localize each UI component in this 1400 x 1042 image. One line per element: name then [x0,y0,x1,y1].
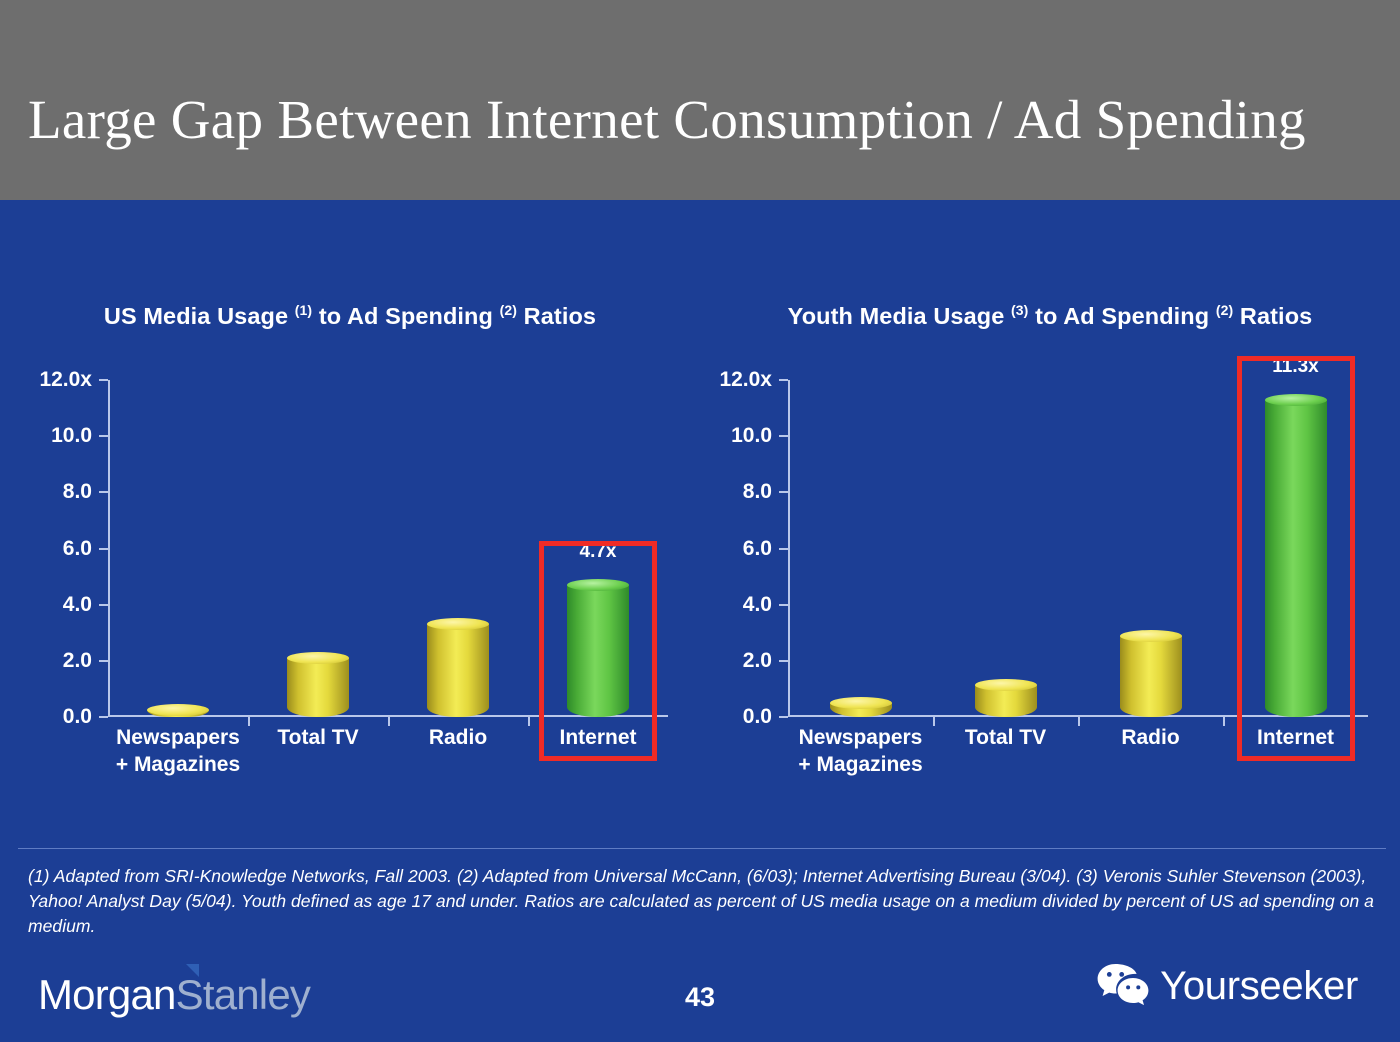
y-axis-label: 6.0 [743,537,772,561]
y-axis-label: 0.0 [743,705,772,729]
x-axis-label-line: Newspapers [798,724,922,751]
slide-body: US Media Usage (1) to Ad Spending (2) Ra… [0,200,1400,1042]
y-axis-tick [779,548,788,550]
bar-cap [287,652,349,664]
chart-title-us-media-usage: US Media Usage (1) to Ad Spending (2) Ra… [0,292,700,334]
bar-radio [1120,636,1182,717]
x-axis-label-line: Newspapers [116,724,240,751]
x-axis-label-line: Internet [1257,724,1334,751]
y-axis-tick [779,604,788,606]
bar-total-tv [287,658,349,717]
chart-youth-media-usage: Youth Media Usage (3) to Ad Spending (2)… [700,200,1400,810]
y-axis-label: 8.0 [743,480,772,504]
x-axis-category-internet: Internet [1257,724,1334,751]
bar-cap [975,679,1037,691]
chart-title-part-1: US Media Usage [104,303,295,329]
footnote-line-1: (1) Adapted from SRI-Knowledge Networks,… [28,866,1218,886]
x-axis-labels-us: Newspapers+ MagazinesTotal TVRadioIntern… [108,724,668,796]
bar-cap [830,697,892,709]
y-axis-label: 10.0 [731,424,772,448]
x-axis-category-internet: Internet [559,724,636,751]
bar-value-label: 11.3x [1272,356,1319,378]
y-axis-label: 10.0 [51,424,92,448]
x-axis-label-line: + Magazines [116,751,240,778]
bar-radio [427,624,489,717]
chart-title-youth-media-usage: Youth Media Usage (3) to Ad Spending (2)… [700,292,1400,334]
chart-title-part-3: Ratios [1233,303,1312,329]
bar-total-tv [975,685,1037,717]
y-axis-tick [99,604,108,606]
x-axis-labels-youth: Newspapers+ MagazinesTotal TVRadioIntern… [788,724,1368,796]
bar-cap [1265,394,1327,406]
y-axis-tick [779,435,788,437]
y-axis-line [108,380,110,717]
bar-internet [1265,400,1327,717]
bar-internet [567,585,629,717]
x-axis-category-newspapers-magazines: Newspapers+ Magazines [798,724,922,778]
y-axis-label: 2.0 [63,649,92,673]
slide-footer: MorganStanley 43 Yourseeker [0,952,1400,1042]
bar-cap [1120,630,1182,642]
yourseeker-watermark: Yourseeker [1096,962,1358,1011]
chart-title-part-2: to Ad Spending [312,303,499,329]
chart-us-media-usage: US Media Usage (1) to Ad Spending (2) Ra… [0,200,700,810]
morgan-stanley-triangle-icon [186,964,199,977]
y-axis-tick [779,716,788,718]
footnote-ref-1: (1) [295,302,312,318]
y-axis-label: 4.0 [63,593,92,617]
yourseeker-label: Yourseeker [1160,964,1358,1009]
y-axis-tick [99,548,108,550]
page-title: Large Gap Between Internet Consumption /… [28,88,1378,151]
x-axis-category-newspapers-magazines: Newspapers+ Magazines [116,724,240,778]
y-axis-label: 12.0x [39,368,92,392]
x-axis-category-radio: Radio [1121,724,1179,751]
y-axis-label: 4.0 [743,593,772,617]
y-axis-tick [99,435,108,437]
footnote-ref-2: (2) [500,302,517,318]
x-axis-label-line: Total TV [277,724,358,751]
footnote-ref-3: (3) [1011,302,1028,318]
footnote-text: (1) Adapted from SRI-Knowledge Networks,… [28,864,1376,939]
y-axis-label: 2.0 [743,649,772,673]
y-axis-line [788,380,790,717]
y-axis-tick [99,379,108,381]
wechat-icon [1096,962,1150,1011]
y-axis-tick [779,379,788,381]
footnote-divider [18,848,1386,849]
footnote-ref-2: (2) [1216,302,1233,318]
x-axis-category-total-tv: Total TV [965,724,1046,751]
x-axis-category-total-tv: Total TV [277,724,358,751]
chart-title-part-2: to Ad Spending [1028,303,1215,329]
y-axis-tick [99,716,108,718]
x-axis-category-radio: Radio [429,724,487,751]
chart-title-part-3: Ratios [517,303,596,329]
y-axis-tick [99,491,108,493]
y-axis-label: 6.0 [63,537,92,561]
x-axis-label-line: + Magazines [798,751,922,778]
y-axis-label: 0.0 [63,705,92,729]
x-axis-label-line: Radio [1121,724,1179,751]
bar-cap [147,704,209,716]
plot-area-youth-media-usage: 0.02.04.06.08.010.012.0x11.3x [788,380,1368,717]
x-axis-label-line: Internet [559,724,636,751]
x-axis-label-line: Radio [429,724,487,751]
chart-title-part-1: Youth Media Usage [788,303,1011,329]
y-axis-label: 12.0x [719,368,772,392]
bar-cap [427,618,489,630]
x-axis-label-line: Total TV [965,724,1046,751]
bar-value-label: 4.7x [580,541,617,563]
plot-area-us-media-usage: 0.02.04.06.08.010.012.0x4.7x [108,380,668,717]
y-axis-label: 8.0 [63,480,92,504]
bar-cap [567,579,629,591]
y-axis-tick [99,660,108,662]
y-axis-tick [779,491,788,493]
y-axis-tick [779,660,788,662]
